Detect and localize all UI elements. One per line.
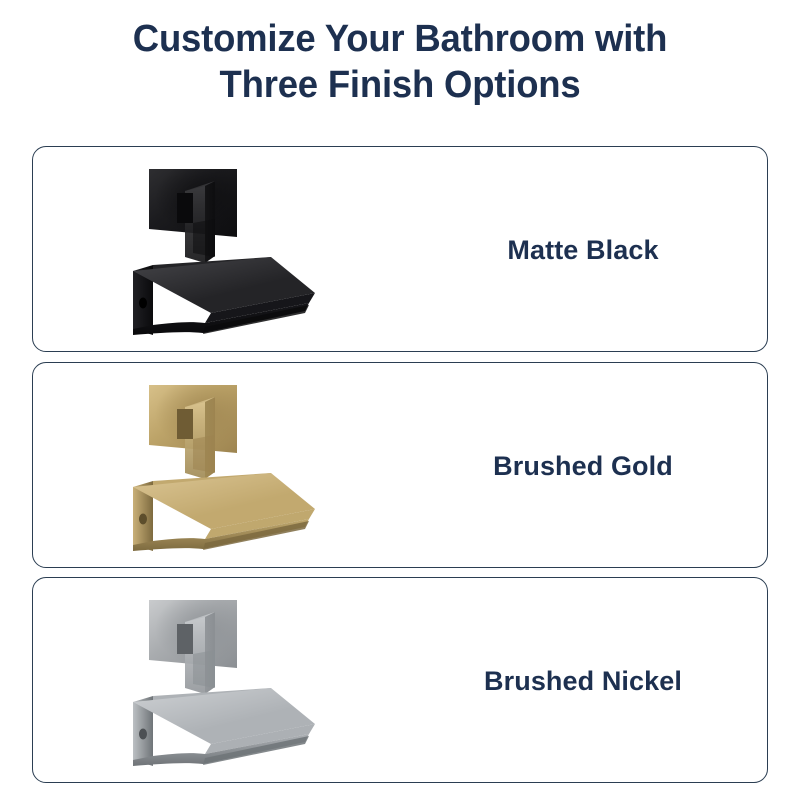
finish-label: Matte Black bbox=[413, 147, 753, 353]
faucet-image-matte-black bbox=[119, 153, 349, 347]
finish-card-matte-black[interactable]: Matte Black bbox=[32, 146, 768, 352]
valve-trim-graphic bbox=[149, 169, 237, 263]
valve-trim-graphic bbox=[149, 600, 237, 694]
waterfall-spout-graphic bbox=[133, 257, 315, 335]
faucet-image-brushed-nickel bbox=[119, 584, 349, 778]
finish-card-brushed-nickel[interactable]: Brushed Nickel bbox=[32, 577, 768, 783]
valve-trim-graphic bbox=[149, 385, 237, 479]
faucet-image-brushed-gold bbox=[119, 369, 349, 563]
page-title: Customize Your Bathroom with Three Finis… bbox=[16, 16, 784, 108]
waterfall-spout-graphic bbox=[133, 473, 315, 551]
finish-label: Brushed Gold bbox=[413, 363, 753, 569]
page-title-line-1: Customize Your Bathroom with bbox=[16, 16, 784, 62]
waterfall-spout-graphic bbox=[133, 688, 315, 766]
page-title-line-2: Three Finish Options bbox=[16, 62, 784, 108]
finish-card-brushed-gold[interactable]: Brushed Gold bbox=[32, 362, 768, 568]
finish-label: Brushed Nickel bbox=[413, 578, 753, 784]
